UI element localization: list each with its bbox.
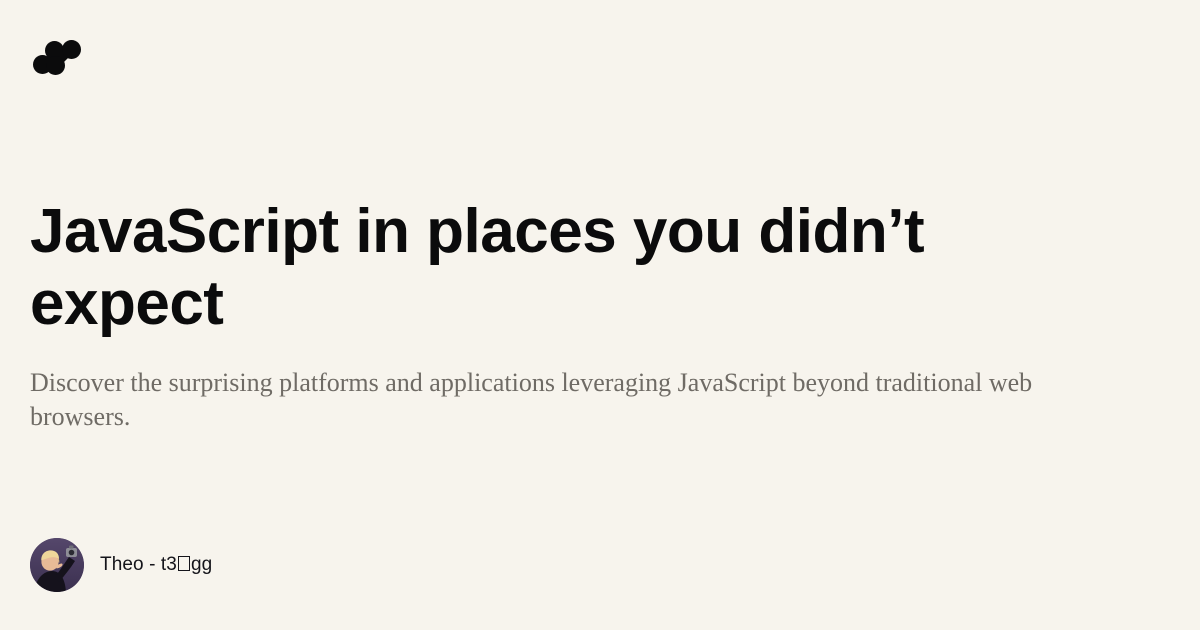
chain-dots-logo-icon	[30, 32, 84, 80]
missing-glyph-box	[178, 556, 190, 572]
page-title: JavaScript in places you didn’t expect	[30, 196, 1020, 340]
page-subtitle: Discover the surprising platforms and ap…	[30, 366, 1070, 435]
author-name-suffix: gg	[191, 554, 212, 575]
headline-block: JavaScript in places you didn’t expect D…	[30, 196, 1090, 434]
author-row: Theo - t3gg	[30, 538, 212, 592]
author-name-prefix: Theo - t3	[100, 554, 177, 575]
avatar	[30, 538, 84, 592]
open-graph-card: JavaScript in places you didn’t expect D…	[0, 0, 1200, 630]
author-name: Theo - t3gg	[100, 554, 212, 576]
